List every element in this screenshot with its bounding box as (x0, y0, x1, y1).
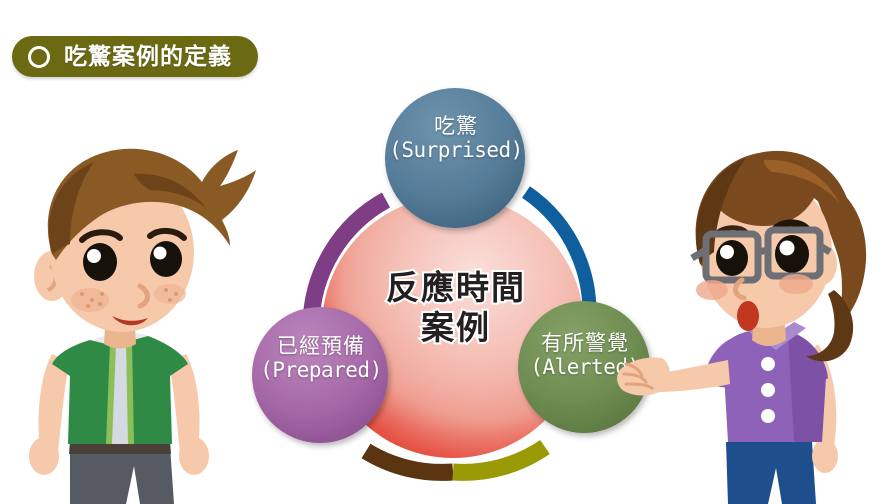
boy-eye-left (83, 243, 117, 281)
boy-eye-left-highlight (87, 249, 101, 263)
venn-diagram (238, 72, 668, 472)
girl-cheek-left (696, 280, 728, 300)
girl-illustration (628, 112, 896, 504)
boy-hand-right (179, 437, 209, 475)
girl-cheek-right (779, 274, 813, 294)
page-title: 吃驚案例的定義 (64, 45, 232, 68)
girl-eye-right-highlight (780, 241, 795, 256)
slide-canvas: 吃驚案例的定義 (0, 0, 896, 504)
girl-eye-right (775, 235, 809, 273)
girl-eye-left (716, 240, 748, 276)
girl-mouth (737, 301, 759, 331)
girl-pants (726, 442, 816, 504)
venn-svg (238, 72, 668, 472)
boy-pants (70, 446, 174, 504)
character-boy (0, 104, 274, 504)
girl-eye-left-highlight (720, 245, 734, 259)
girl-buttons (761, 357, 775, 423)
character-girl (628, 112, 896, 504)
boy-illustration (0, 104, 274, 504)
ring-icon (28, 46, 50, 68)
girl-hand-right (812, 439, 838, 473)
boy-hand-left (29, 437, 59, 475)
boy-eye-right-highlight (154, 247, 167, 260)
node-circle-surprised[interactable] (385, 88, 525, 228)
title-badge: 吃驚案例的定義 (12, 36, 258, 77)
boy-eye-right (150, 241, 182, 277)
